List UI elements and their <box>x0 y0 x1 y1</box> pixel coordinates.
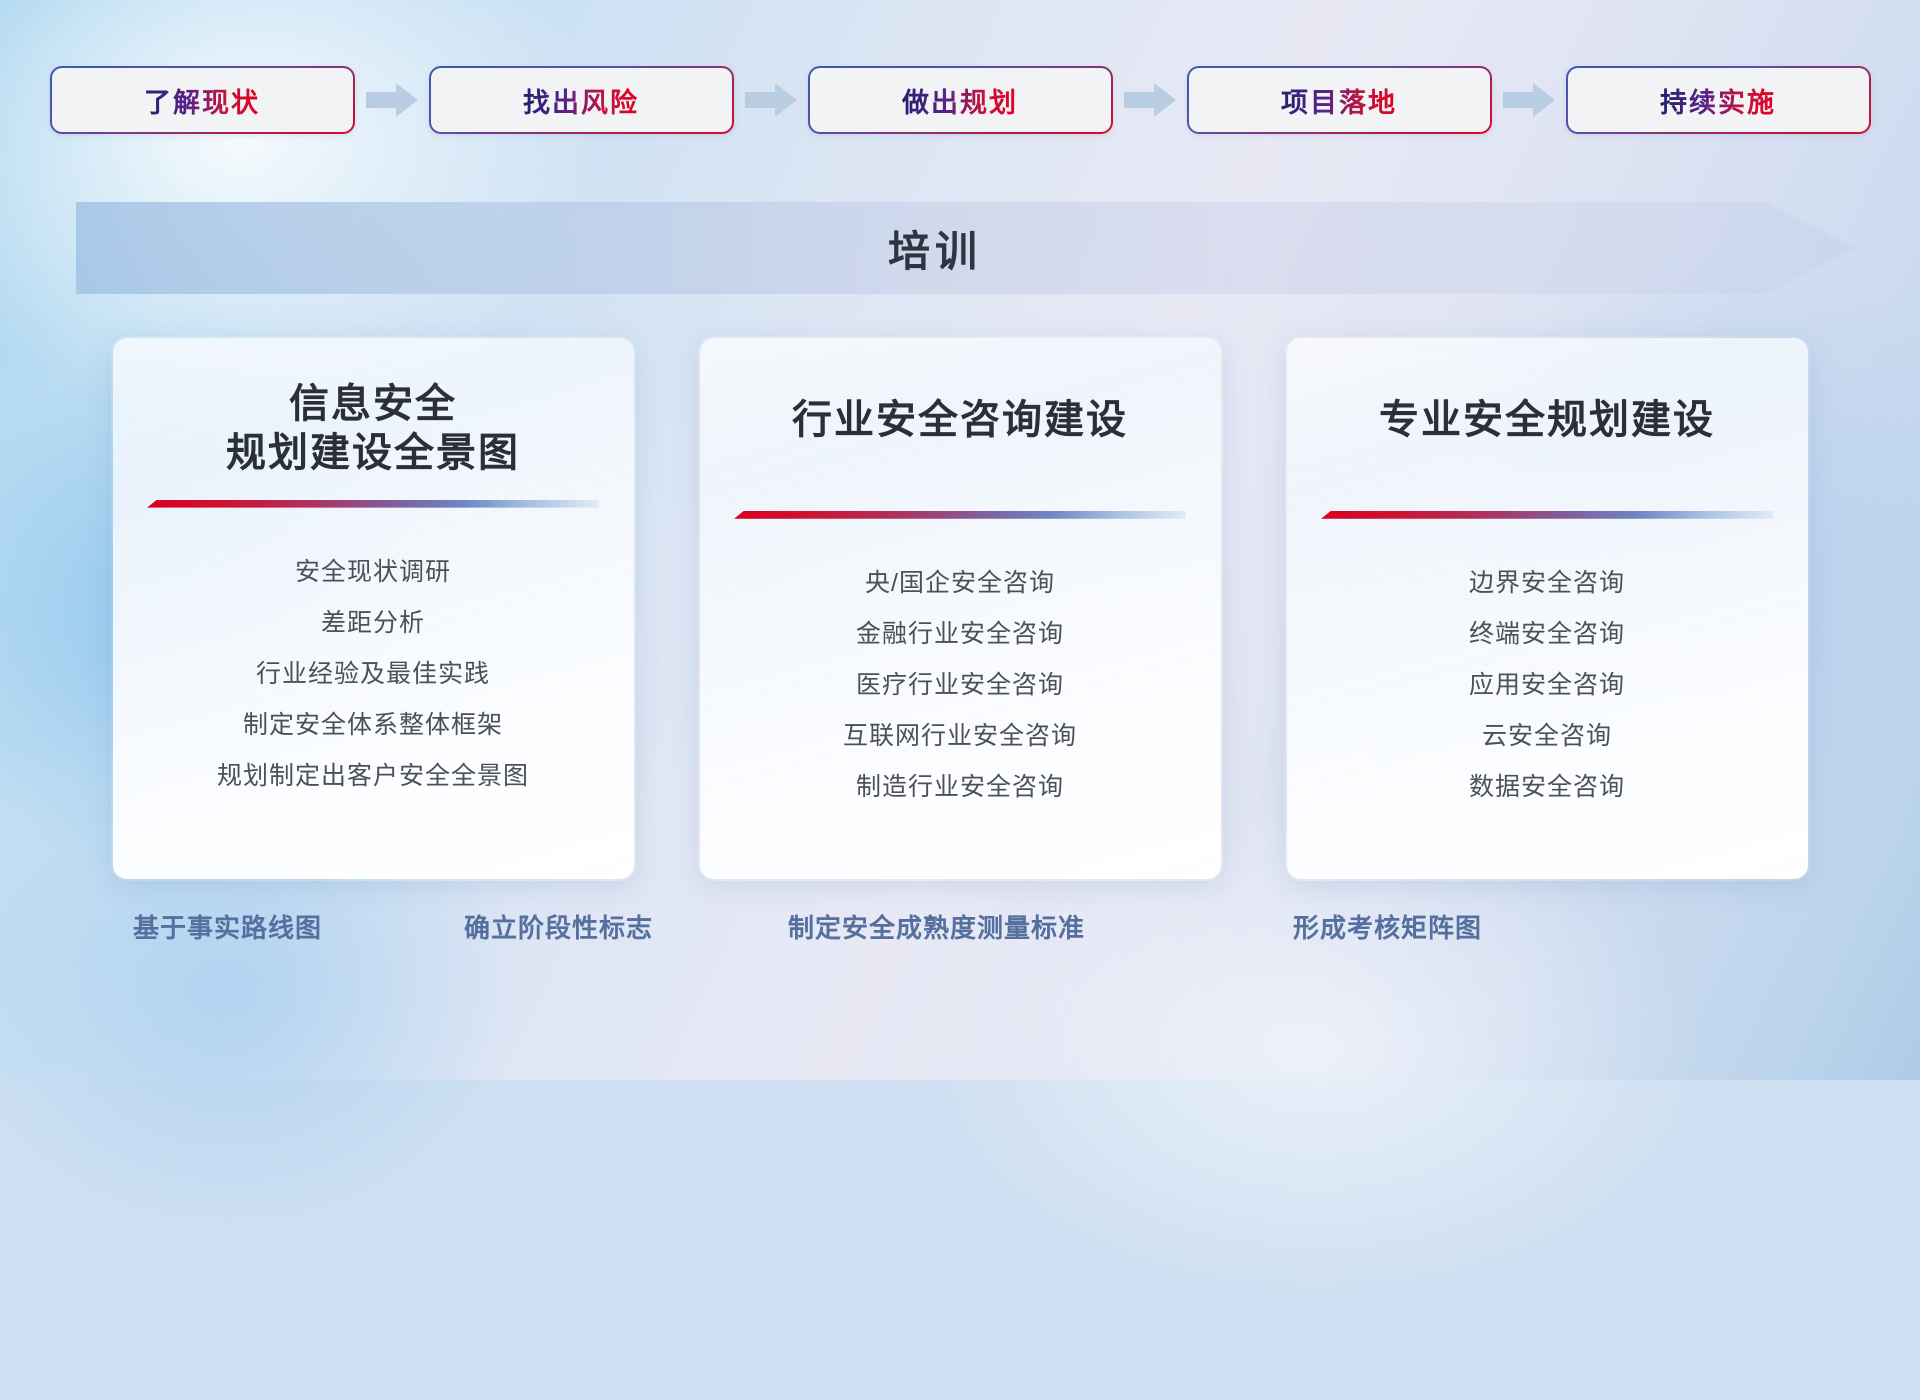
step-pill-5-label: 持续实施 <box>1660 81 1776 120</box>
list-item: 边界安全咨询 <box>1469 558 1625 609</box>
step-pill-3-label: 做出规划 <box>902 81 1018 120</box>
card-row: 信息安全 规划建设全景图 安全现状调研 差距分析 行业经验及最佳实践 制定安全体… <box>0 336 1920 881</box>
list-item: 制造行业安全咨询 <box>856 762 1064 813</box>
list-item: 规划制定出客户安全全景图 <box>217 751 529 802</box>
outcome-label: 确立阶段性标志 <box>464 908 653 945</box>
outcome-label: 制定安全成熟度测量标准 <box>788 908 1085 945</box>
step-5-wrap: 持续实施 <box>1566 66 1871 134</box>
step-pill-2[interactable]: 找出风险 <box>429 66 734 134</box>
list-item: 数据安全咨询 <box>1469 762 1625 813</box>
card-item-list: 央/国企安全咨询 金融行业安全咨询 医疗行业安全咨询 互联网行业安全咨询 制造行… <box>700 558 1221 813</box>
list-item: 金融行业安全咨询 <box>856 609 1064 660</box>
list-item: 互联网行业安全咨询 <box>843 711 1077 762</box>
card-professional-security-planning[interactable]: 专业安全规划建设 边界安全咨询 终端安全咨询 应用安全咨询 云安全咨询 数据安全… <box>1285 336 1810 881</box>
card-information-security-blueprint[interactable]: 信息安全 规划建设全景图 安全现状调研 差距分析 行业经验及最佳实践 制定安全体… <box>111 336 636 881</box>
card-item-list: 边界安全咨询 终端安全咨询 应用安全咨询 云安全咨询 数据安全咨询 <box>1287 558 1808 813</box>
chevron-right-arrow-icon <box>1122 83 1178 117</box>
step-3-wrap: 做出规划 <box>808 66 1113 134</box>
gradient-rule-icon <box>1321 511 1773 524</box>
training-banner: 培训 <box>76 202 1854 294</box>
chevron-right-arrow-icon <box>743 83 799 117</box>
step-pill-2-label: 找出风险 <box>523 81 639 120</box>
process-step-bar: 了解现状 找出风险 做出规划 项目落地 持续实施 <box>0 66 1920 134</box>
list-item: 制定安全体系整体框架 <box>243 700 503 751</box>
outcome-label: 基于事实路线图 <box>133 908 322 945</box>
step-1-wrap: 了解现状 <box>50 66 355 134</box>
list-item: 云安全咨询 <box>1482 711 1612 762</box>
step-4-wrap: 项目落地 <box>1187 66 1492 134</box>
step-pill-1[interactable]: 了解现状 <box>50 66 355 134</box>
gradient-rule-icon <box>147 500 599 513</box>
list-item: 行业经验及最佳实践 <box>256 649 490 700</box>
list-item: 终端安全咨询 <box>1469 609 1625 660</box>
step-2-wrap: 找出风险 <box>429 66 734 134</box>
list-item: 应用安全咨询 <box>1469 660 1625 711</box>
gradient-rule-icon <box>734 511 1186 524</box>
list-item: 差距分析 <box>321 598 425 649</box>
card-title: 行业安全咨询建设 <box>792 396 1128 445</box>
list-item: 安全现状调研 <box>295 547 451 598</box>
card-title: 专业安全规划建设 <box>1379 396 1715 445</box>
step-pill-4-label: 项目落地 <box>1281 81 1397 120</box>
outcome-label: 形成考核矩阵图 <box>1293 908 1482 945</box>
card-industry-security-consulting[interactable]: 行业安全咨询建设 央/国企安全咨询 金融行业安全咨询 医疗行业安全咨询 互联网行… <box>698 336 1223 881</box>
training-banner-title: 培训 <box>76 202 1854 294</box>
step-pill-1-label: 了解现状 <box>144 81 260 120</box>
card-item-list: 安全现状调研 差距分析 行业经验及最佳实践 制定安全体系整体框架 规划制定出客户… <box>113 547 634 802</box>
outcome-label-row: 基于事实路线图 确立阶段性标志 制定安全成熟度测量标准 形成考核矩阵图 <box>0 908 1920 964</box>
step-pill-4[interactable]: 项目落地 <box>1187 66 1492 134</box>
list-item: 央/国企安全咨询 <box>865 558 1055 609</box>
card-title: 信息安全 规划建设全景图 <box>226 380 520 478</box>
chevron-right-arrow-icon <box>364 83 420 117</box>
chevron-right-arrow-icon <box>1501 83 1557 117</box>
list-item: 医疗行业安全咨询 <box>856 660 1064 711</box>
step-pill-5[interactable]: 持续实施 <box>1566 66 1871 134</box>
step-pill-3[interactable]: 做出规划 <box>808 66 1113 134</box>
